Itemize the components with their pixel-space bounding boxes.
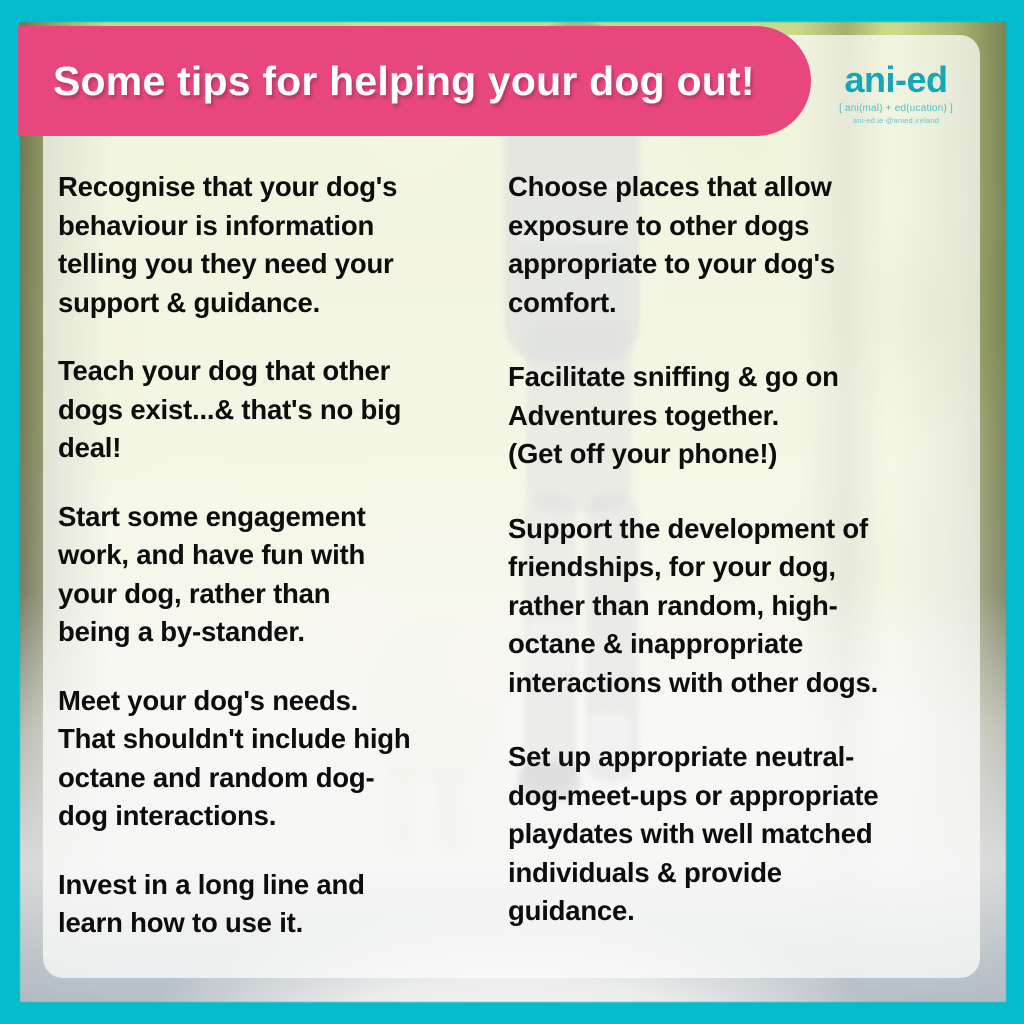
logo-wordmark: ani-ed [806, 62, 986, 98]
tip-item: Support the development of friendships, … [508, 510, 978, 703]
tip-item: Meet your dog's needs. That shouldn't in… [58, 682, 470, 836]
tip-item: Choose places that allow exposure to oth… [508, 168, 978, 322]
brand-logo: ani-ed [ ani(mal) + ed(ucation) ] ani-ed… [806, 62, 986, 125]
tip-item: Invest in a long line and learn how to u… [58, 866, 470, 943]
tip-item: Teach your dog that other dogs exist...&… [58, 352, 470, 468]
tip-item: Start some engagement work, and have fun… [58, 498, 470, 652]
logo-handle: ani-ed.ie @anied.ireland [806, 116, 986, 125]
tips-column-right: Choose places that allow exposure to oth… [508, 168, 978, 958]
tip-item: Recognise that your dog's behaviour is i… [58, 168, 470, 322]
title-banner: Some tips for helping your dog out! [18, 26, 811, 136]
tips-column-left: Recognise that your dog's behaviour is i… [58, 168, 470, 958]
poster-canvas: Some tips for helping your dog out! ani-… [0, 0, 1024, 1024]
tip-item: Set up appropriate neutral- dog-meet-ups… [508, 738, 978, 931]
tip-item: Facilitate sniffing & go on Adventures t… [508, 358, 978, 474]
logo-tagline: [ ani(mal) + ed(ucation) ] [806, 103, 986, 114]
page-title: Some tips for helping your dog out! [53, 58, 755, 105]
tips-columns: Recognise that your dog's behaviour is i… [58, 168, 978, 958]
